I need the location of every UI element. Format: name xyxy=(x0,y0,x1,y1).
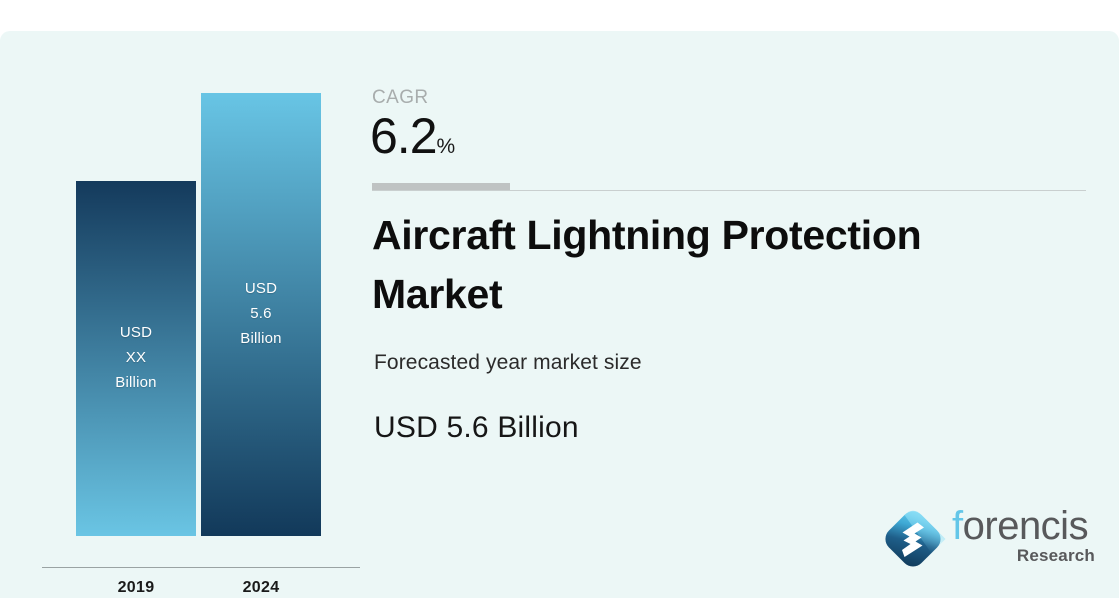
bar-2024-label: USD 5.6 Billion xyxy=(201,276,321,351)
logo-brand-rest: orencis xyxy=(963,504,1088,548)
cagr-percent-sign: % xyxy=(437,135,456,158)
x-tick-2019: 2019 xyxy=(76,579,196,597)
cagr-number: 6.2 xyxy=(370,108,437,164)
divider-accent xyxy=(372,183,510,190)
x-tick-2024: 2024 xyxy=(201,579,321,597)
bar-chart: USD XX Billion USD 5.6 Billion 2019 2024 xyxy=(0,31,370,598)
bar-2024-magnitude: Billion xyxy=(201,326,321,351)
bar-2019-magnitude: Billion xyxy=(76,370,196,395)
section-divider xyxy=(372,181,1086,192)
divider-line xyxy=(372,190,1086,191)
bar-2024: USD 5.6 Billion xyxy=(201,93,321,536)
cagr-value: 6.2% xyxy=(370,111,455,161)
bar-2019-label: USD XX Billion xyxy=(76,320,196,395)
logo-brand-initial: f xyxy=(952,504,963,548)
bar-2019-value: XX xyxy=(76,345,196,370)
forecast-value: USD 5.6 Billion xyxy=(374,411,579,445)
logo-wordmark: forencis Research xyxy=(952,504,1097,574)
forecast-subtitle: Forecasted year market size xyxy=(374,351,642,375)
x-axis-line xyxy=(42,567,360,568)
logo-brand-name: forencis xyxy=(952,504,1088,548)
bar-2019: USD XX Billion xyxy=(76,181,196,536)
forencis-logo: forencis Research xyxy=(880,502,1095,582)
logo-tagline: Research xyxy=(1017,546,1095,566)
plot-area: USD XX Billion USD 5.6 Billion xyxy=(42,51,360,536)
market-infographic: USD XX Billion USD 5.6 Billion 2019 2024… xyxy=(0,0,1119,598)
logo-badge-icon xyxy=(880,506,946,572)
x-axis-tick-labels: 2019 2024 xyxy=(42,579,360,605)
bar-2024-value: 5.6 xyxy=(201,301,321,326)
page-title: Aircraft Lightning Protection Market xyxy=(372,206,1012,325)
bar-2019-currency: USD xyxy=(76,320,196,345)
bar-2024-currency: USD xyxy=(201,276,321,301)
cagr-label: CAGR xyxy=(372,87,429,109)
